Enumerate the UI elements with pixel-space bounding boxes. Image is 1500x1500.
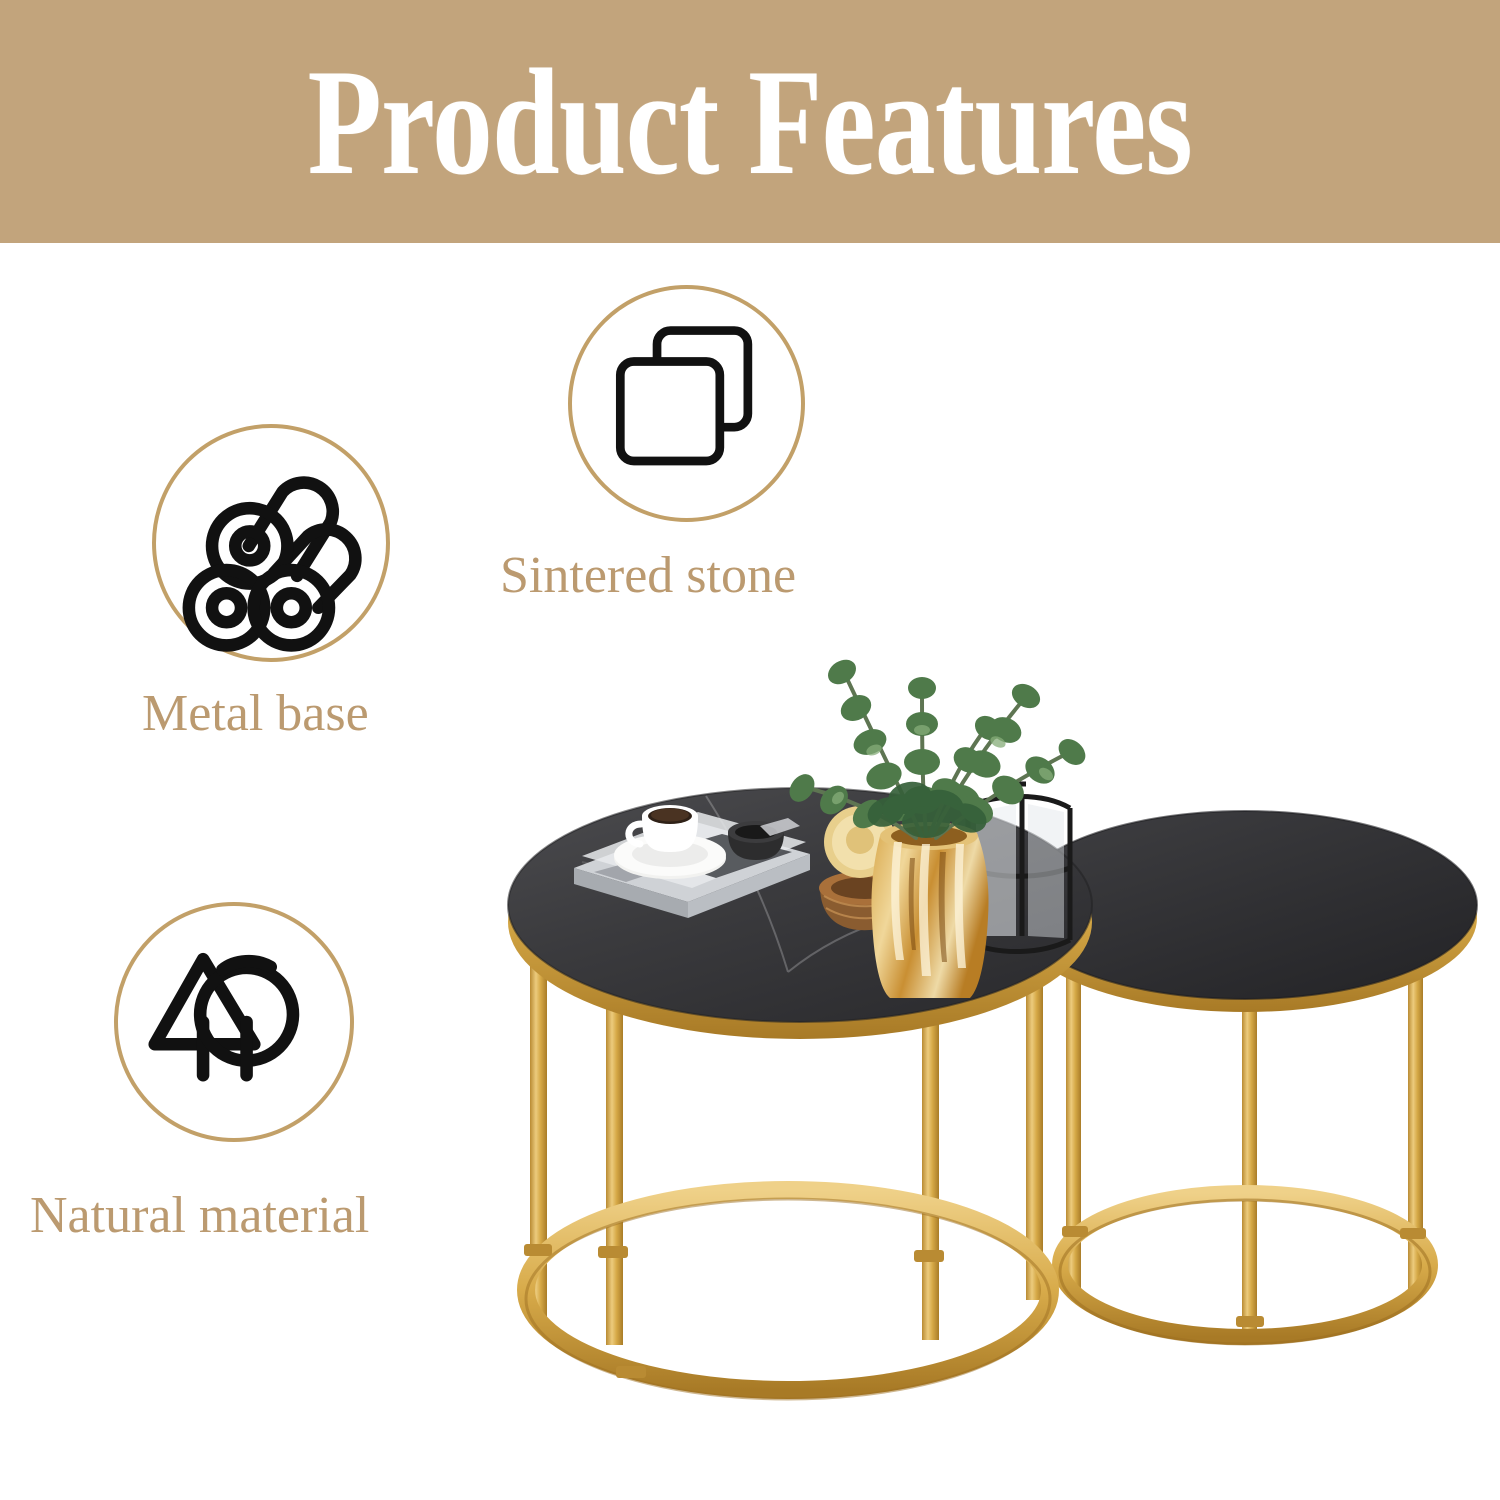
header-banner: Product Features bbox=[0, 0, 1500, 243]
sintered-stone-badge-circle bbox=[568, 285, 805, 522]
front-table-base-ring bbox=[526, 1190, 1050, 1390]
stacked-metal-tubes-icon bbox=[156, 428, 386, 658]
front-table-base-ring-lower bbox=[526, 1199, 1050, 1399]
amber-drip-vase bbox=[871, 822, 988, 998]
natural-material-badge-circle bbox=[114, 902, 354, 1142]
product-features-infographic: Product Features bbox=[0, 0, 1500, 1500]
two-trees-icon bbox=[118, 906, 350, 1138]
metal-base-badge-circle bbox=[152, 424, 390, 662]
stacked-tiles-icon bbox=[572, 289, 801, 518]
natural-material-label: Natural material bbox=[30, 1190, 369, 1242]
nesting-coffee-tables-illustration bbox=[470, 600, 1480, 1480]
sintered-stone-label: Sintered stone bbox=[500, 550, 796, 602]
metal-base-label: Metal base bbox=[142, 688, 369, 740]
page-title: Product Features bbox=[308, 46, 1192, 198]
product-photo bbox=[470, 600, 1480, 1480]
